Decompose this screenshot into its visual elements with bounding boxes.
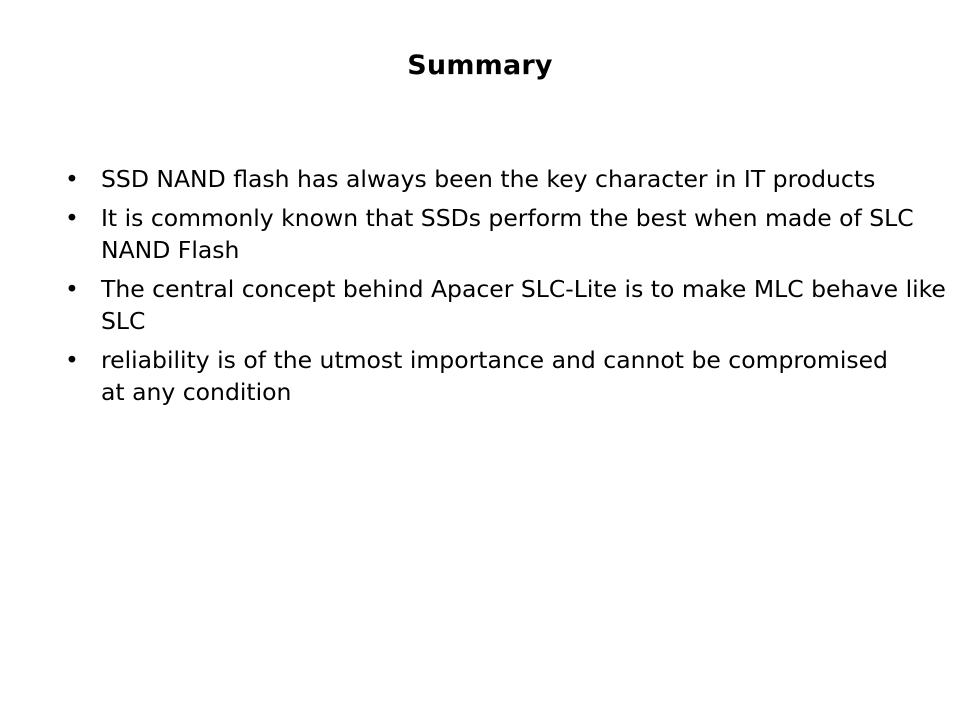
bullet-list: • SSD NAND flash has always been the key… [60,163,918,408]
list-item: • The central concept behind Apacer SLC-… [60,273,959,337]
bullet-point-icon: • [65,344,79,376]
list-item-label: reliability is of the utmost importance … [101,344,891,408]
page-title: Summary [0,50,960,82]
list-item-label: It is commonly known that SSDs perform t… [101,202,921,266]
bullet-point-icon: • [65,202,79,234]
list-item: • It is commonly known that SSDs perform… [60,202,921,266]
bullet-point-icon: • [65,163,79,195]
bullet-point-icon: • [65,273,79,305]
list-item-label: The central concept behind Apacer SLC-Li… [101,273,959,337]
list-item-label: SSD NAND flash has always been the key c… [101,163,931,195]
list-item: • SSD NAND flash has always been the key… [60,163,931,195]
list-item: • reliability is of the utmost importanc… [60,344,891,408]
slide-canvas: Summary • SSD NAND flash has always been… [0,0,960,720]
